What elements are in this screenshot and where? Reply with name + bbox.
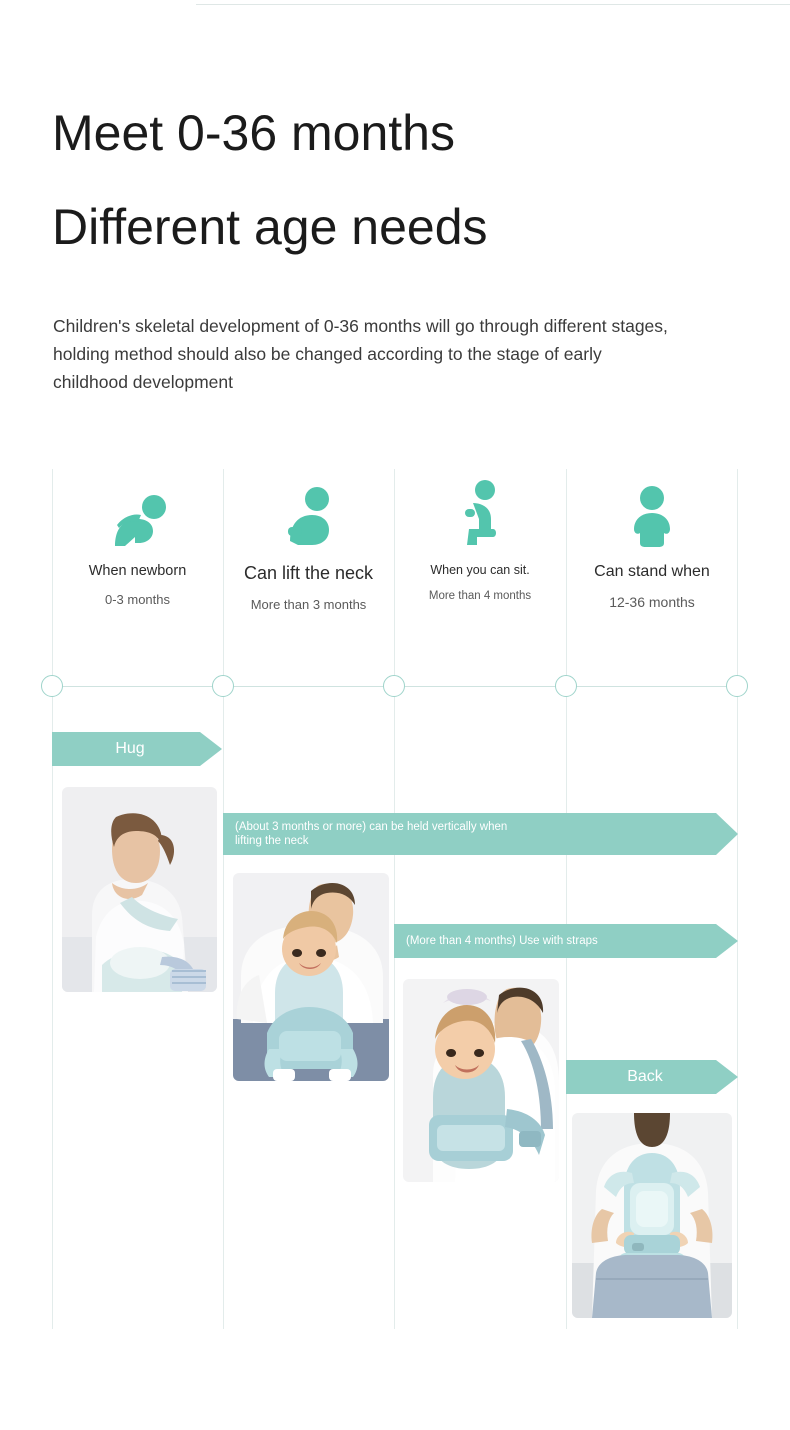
page-title: Meet 0-36 months Different age needs bbox=[52, 100, 752, 260]
timeline-node-2 bbox=[212, 675, 234, 697]
stage-lift-neck: Can lift the neck More than 3 months bbox=[223, 479, 394, 612]
timeline-node-1 bbox=[41, 675, 63, 697]
baby-lifting-neck-icon bbox=[223, 479, 394, 551]
photo-back-carry bbox=[572, 1113, 732, 1318]
arrow-head-icon bbox=[716, 924, 738, 958]
timeline-node-5 bbox=[726, 675, 748, 697]
stage-title: Can stand when bbox=[566, 563, 738, 581]
arrow-back: Back bbox=[566, 1060, 738, 1094]
baby-sitting-icon bbox=[394, 479, 566, 551]
top-divider bbox=[196, 4, 790, 5]
arrow-vertical-hold: (About 3 months or more) can be held ver… bbox=[223, 813, 738, 855]
stage-title: Can lift the neck bbox=[223, 563, 394, 584]
baby-standing-icon bbox=[566, 479, 738, 551]
baby-lying-icon bbox=[52, 479, 223, 551]
arrow-hug: Hug bbox=[52, 732, 222, 766]
timeline: When newborn 0-3 months Can lift the nec… bbox=[52, 469, 738, 1329]
timeline-node-4 bbox=[555, 675, 577, 697]
photo-hip-seat-front bbox=[233, 873, 389, 1081]
stage-stand: Can stand when 12-36 months bbox=[566, 479, 738, 610]
arrow-label: (More than 4 months) Use with straps bbox=[406, 934, 598, 948]
intro-paragraph: Children's skeletal development of 0-36 … bbox=[53, 312, 673, 396]
timeline-node-3 bbox=[383, 675, 405, 697]
stage-age: 12-36 months bbox=[566, 594, 738, 610]
headline-line-1: Meet 0-36 months bbox=[52, 100, 752, 166]
stage-age: More than 4 months bbox=[394, 590, 566, 602]
arrow-label: (About 3 months or more) can be held ver… bbox=[235, 820, 520, 848]
arrow-label: Hug bbox=[64, 740, 196, 758]
stage-newborn: When newborn 0-3 months bbox=[52, 479, 223, 607]
headline-line-2: Different age needs bbox=[52, 194, 752, 260]
arrow-head-icon bbox=[200, 732, 222, 766]
photo-newborn-hug bbox=[62, 787, 217, 992]
arrow-head-icon bbox=[716, 813, 738, 855]
arrow-head-icon bbox=[716, 1060, 738, 1094]
stage-sit: When you can sit. More than 4 months bbox=[394, 479, 566, 602]
stage-age: More than 3 months bbox=[223, 597, 394, 612]
stage-age: 0-3 months bbox=[52, 592, 223, 607]
arrow-use-with-straps: (More than 4 months) Use with straps bbox=[394, 924, 738, 958]
stage-title: When newborn bbox=[52, 563, 223, 579]
arrow-label: Back bbox=[578, 1068, 712, 1086]
photo-straps-front bbox=[403, 979, 559, 1182]
stage-title: When you can sit. bbox=[394, 563, 566, 577]
